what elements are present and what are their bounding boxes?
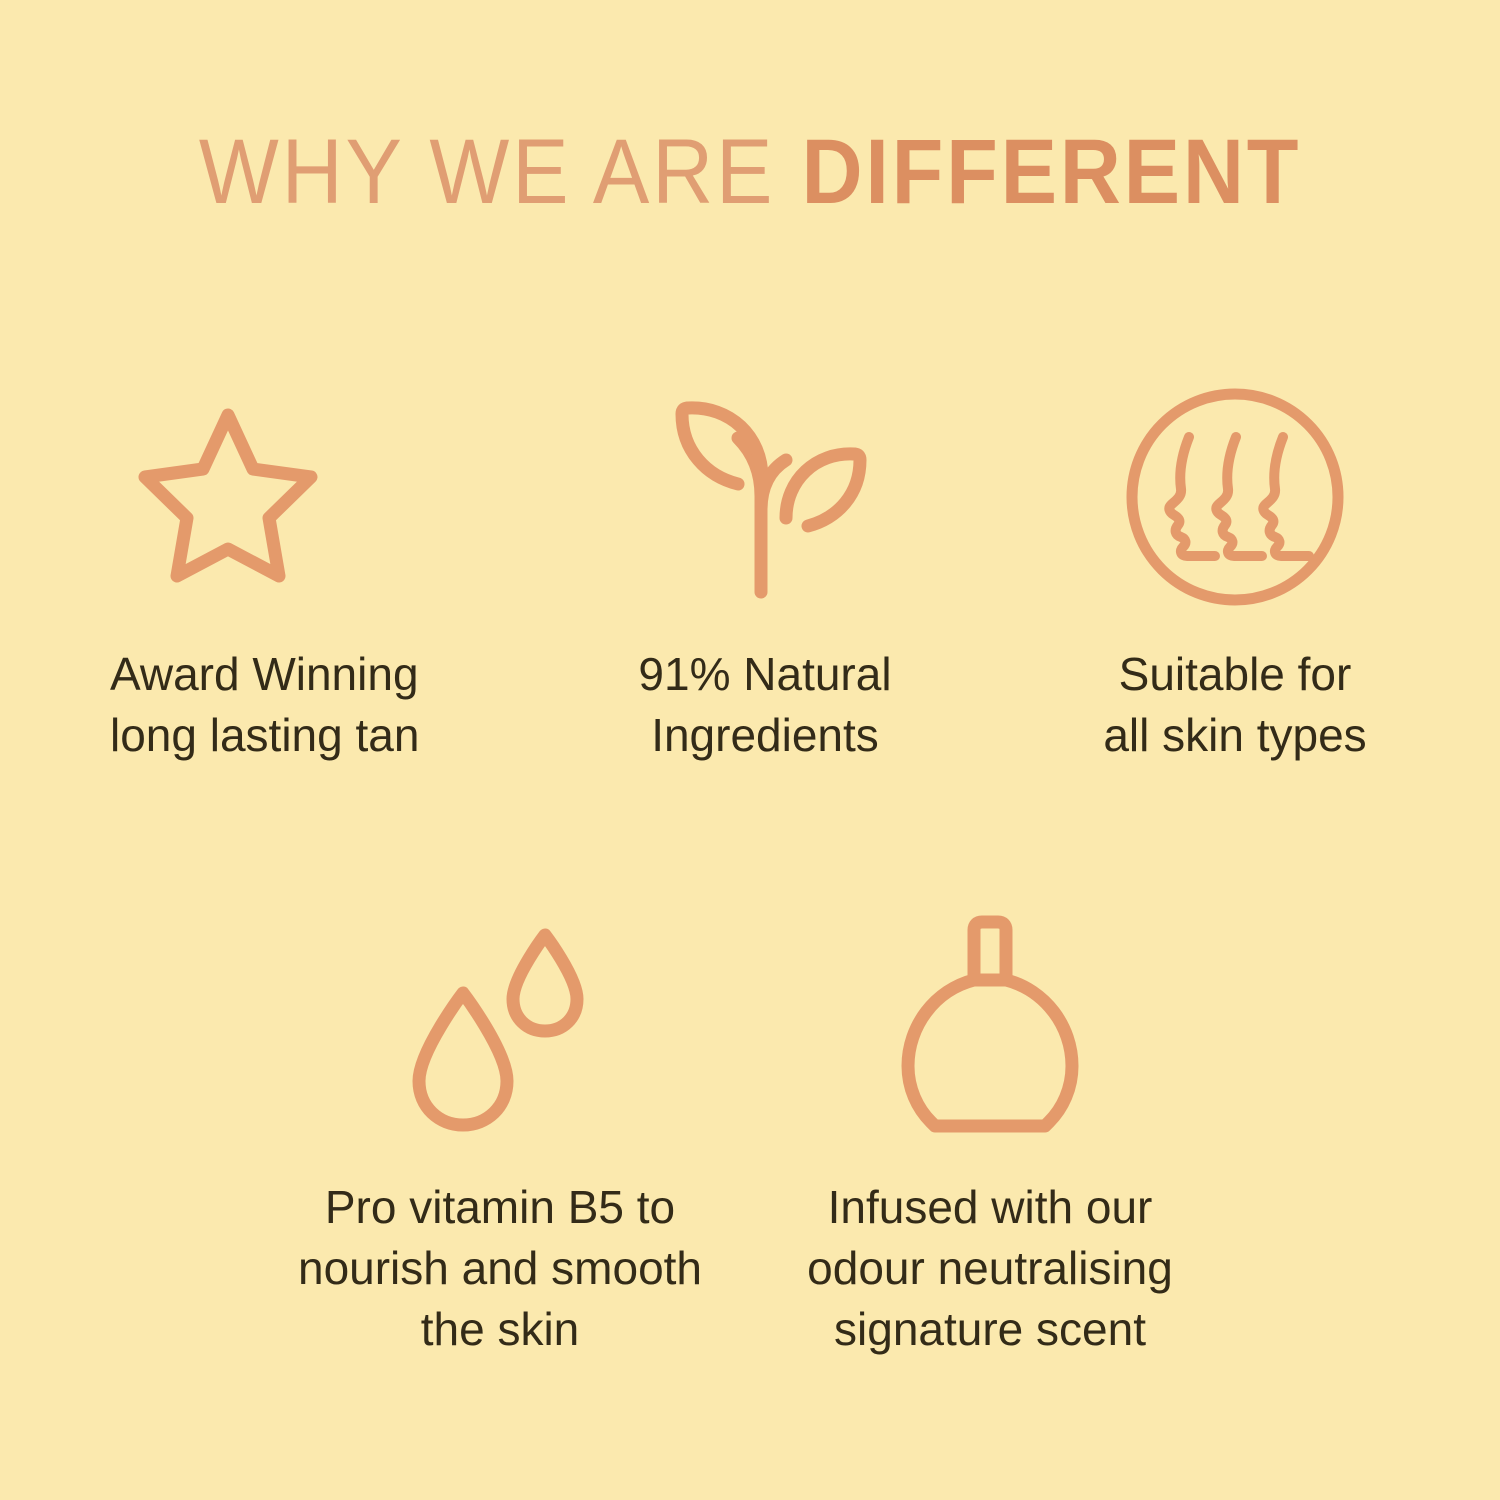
feature-caption-signature-scent: Infused with our odour neutralising sign… — [807, 1177, 1173, 1361]
skin-types-icon — [1123, 372, 1347, 622]
water-droplets-icon — [405, 905, 595, 1155]
star-icon — [110, 372, 328, 622]
page-title-light: WHY WE ARE — [199, 121, 802, 223]
caption-line: all skin types — [1103, 705, 1366, 766]
caption-line: Award Winning — [110, 644, 419, 705]
caption-line: Suitable for — [1103, 644, 1366, 705]
feature-row-top: Award Winning long lasting tan — [0, 372, 1500, 766]
caption-line: odour neutralising — [807, 1238, 1173, 1299]
page-title: WHY WE ARE DIFFERENT — [0, 126, 1500, 218]
feature-caption-natural-ingredients: 91% Natural Ingredients — [638, 644, 891, 766]
perfume-bottle-icon — [895, 905, 1085, 1155]
caption-line: nourish and smooth — [298, 1238, 702, 1299]
feature-row-bottom: Pro vitamin B5 to nourish and smooth the… — [0, 905, 1500, 1361]
caption-line: Pro vitamin B5 to — [298, 1177, 702, 1238]
page-title-bold: DIFFERENT — [801, 121, 1301, 223]
feature-item-provitamin-b5: Pro vitamin B5 to nourish and smooth the… — [270, 905, 750, 1361]
infographic-page: WHY WE ARE DIFFERENT Award Winning long … — [0, 0, 1500, 1500]
feature-caption-skin-types: Suitable for all skin types — [1103, 644, 1366, 766]
caption-line: long lasting tan — [110, 705, 419, 766]
feature-caption-award-winning: Award Winning long lasting tan — [110, 644, 419, 766]
caption-line: Ingredients — [638, 705, 891, 766]
feature-caption-provitamin-b5: Pro vitamin B5 to nourish and smooth the… — [298, 1177, 702, 1361]
feature-item-skin-types: Suitable for all skin types — [1000, 372, 1470, 766]
caption-line: signature scent — [807, 1299, 1173, 1360]
sprout-icon — [658, 372, 873, 622]
feature-item-signature-scent: Infused with our odour neutralising sign… — [750, 905, 1230, 1361]
feature-item-award-winning: Award Winning long lasting tan — [30, 372, 530, 766]
feature-item-natural-ingredients: 91% Natural Ingredients — [530, 372, 1000, 766]
caption-line: 91% Natural — [638, 644, 891, 705]
caption-line: the skin — [298, 1299, 702, 1360]
caption-line: Infused with our — [807, 1177, 1173, 1238]
